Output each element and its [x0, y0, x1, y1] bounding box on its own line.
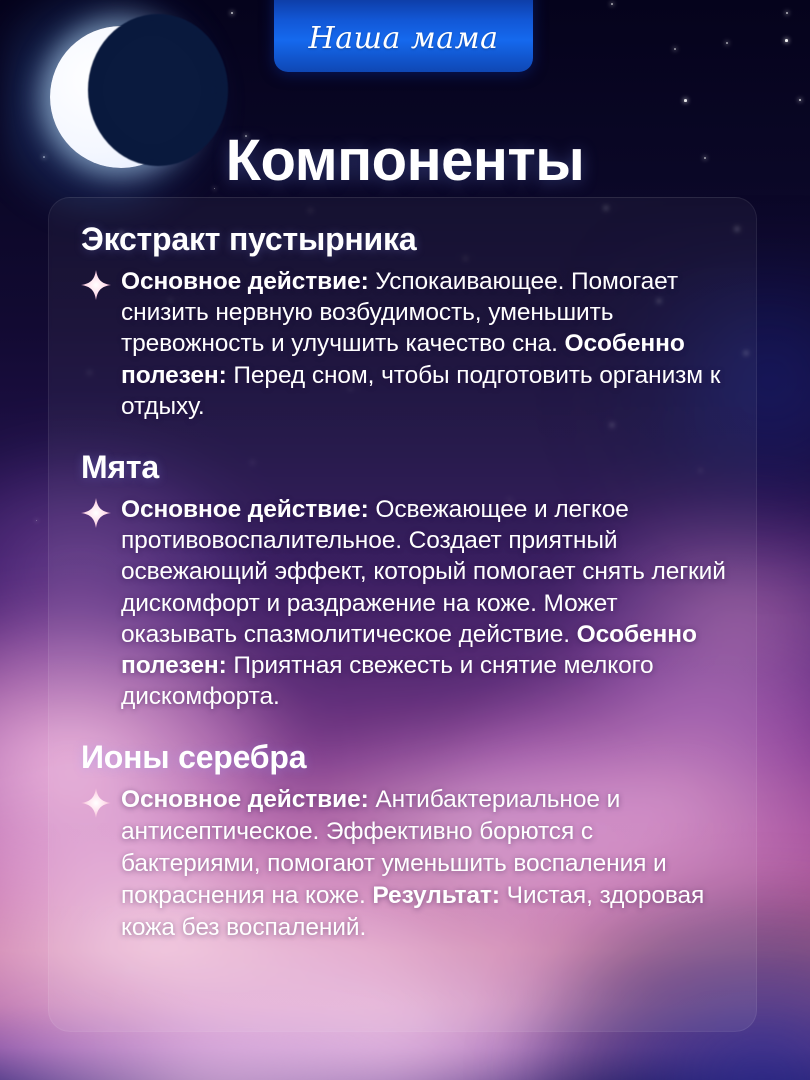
ingredient-section-mint: Мята Основное действие: Освежающее и лег… [81, 450, 738, 712]
brand-badge[interactable]: Наша мама [274, 0, 533, 72]
poster-canvas: Наша мама Компоненты Экстракт пустырника… [0, 0, 810, 1080]
section-list: Экстракт пустырника Основное действие: У… [49, 198, 756, 1031]
ingredient-description: Основное действие: Успокаивающее. Помога… [121, 266, 738, 422]
ingredient-title: Ионы серебра [81, 740, 738, 776]
ingredient-body-row: Основное действие: Антибактериальное и а… [81, 784, 738, 943]
components-card: Экстракт пустырника Основное действие: У… [48, 197, 757, 1032]
brand-name: Наша мама [309, 21, 499, 72]
ingredient-section-motherwort: Экстракт пустырника Основное действие: У… [81, 222, 738, 422]
ingredient-title: Мята [81, 450, 738, 486]
entry-label: Результат: [372, 882, 499, 909]
ingredient-section-silver: Ионы серебра Основное действие: Антибакт… [81, 740, 738, 943]
sparkle-icon [81, 498, 111, 528]
entry-label: Основное действие: [121, 268, 369, 295]
page-title: Компоненты [0, 127, 810, 194]
ingredient-title: Экстракт пустырника [81, 222, 738, 258]
ingredient-body-row: Основное действие: Освежающее и легкое п… [81, 494, 738, 713]
ingredient-body-row: Основное действие: Успокаивающее. Помога… [81, 266, 738, 422]
sparkle-icon [81, 270, 111, 300]
sparkle-icon [81, 788, 111, 818]
ingredient-description: Основное действие: Антибактериальное и а… [121, 784, 738, 943]
entry-label: Основное действие: [121, 496, 369, 523]
ingredient-description: Основное действие: Освежающее и легкое п… [121, 494, 738, 713]
entry-label: Основное действие: [121, 786, 369, 813]
